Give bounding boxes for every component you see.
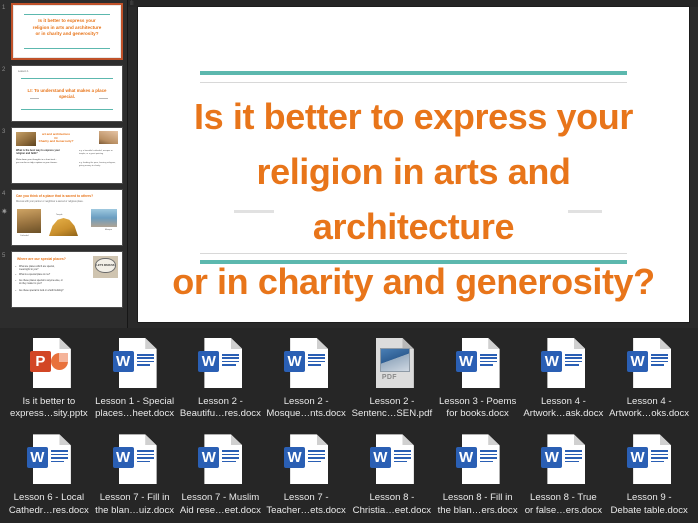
word-letter-badge: W (284, 447, 305, 468)
file-item[interactable]: P Is it better to express…sity.pptx (6, 336, 92, 420)
file-item[interactable]: W Lesson 1 - Special places…heet.docx (92, 336, 178, 420)
file-label-line-1: Is it better to (7, 396, 91, 408)
file-item[interactable]: W Lesson 7 - Muslim Aid rese…eet.docx (178, 432, 264, 516)
file-item[interactable]: W Lesson 3 - Poems for books.docx (435, 336, 521, 420)
presentation-editor: 1 Is it better to express your religion … (0, 0, 698, 328)
thumb1-rule-bottom (24, 48, 110, 49)
file-label-line-2: Teacher…ets.docx (264, 505, 348, 517)
slide-rule-bottom (200, 260, 627, 264)
slide-number-5: 5 (2, 251, 11, 260)
word-file-icon: W (369, 434, 415, 488)
thumb3-body: Write down your thoughts in a short task… (16, 159, 60, 165)
thumb4-caption-mosque: Mosque (105, 229, 112, 231)
thumb3-right-note-b: e.g. feeding the poor, housing refugees,… (79, 162, 119, 168)
file-label-line-2: Artwork…ask.docx (522, 408, 606, 420)
thumb5-discuss-caption: LET'S DISCUSS (95, 258, 116, 273)
file-item[interactable]: W Lesson 8 - Fill in the blan…ers.docx (435, 432, 521, 516)
stage-top-bar: ili (128, 0, 698, 7)
slide-number-1: 1 (2, 3, 11, 12)
file-item[interactable]: W Lesson 2 - Mosque…nts.docx (263, 336, 349, 420)
file-item[interactable]: PDF Lesson 2 - Sentenc…SEN.pdf (349, 336, 435, 420)
word-letter-badge: W (284, 351, 305, 372)
thumb3-charity-image (99, 131, 118, 144)
text-lines-glyph (565, 354, 582, 369)
file-label-line-2: express…sity.pptx (7, 408, 91, 420)
slide-artifact-right (568, 210, 602, 213)
thumb3-right-note-a: e.g. a beautiful cathedral, mosque or te… (79, 150, 119, 156)
file-label-line-2: Mosque…nts.docx (264, 408, 348, 420)
word-letter-badge: W (627, 351, 648, 372)
file-label-line-2: Artwork…oks.docx (607, 408, 691, 420)
slide-thumbnail-4-canvas[interactable]: Can you think of a place that is sacred … (11, 189, 123, 246)
file-label-line-1: Lesson 2 - (264, 396, 348, 408)
word-file-icon: W (283, 434, 329, 488)
file-label: Lesson 7 - Muslim Aid rese…eet.docx (179, 492, 263, 516)
slide-number-2: 2 (2, 65, 11, 74)
file-row-1: P Is it better to express…sity.pptx W Le… (6, 336, 692, 420)
file-label: Lesson 9 - Debate table.docx (607, 492, 691, 516)
file-label-line-1: Lesson 8 - (350, 492, 434, 504)
slide-thumbnail-rail[interactable]: 1 Is it better to express your religion … (0, 0, 128, 328)
slide-thumbnail-1[interactable]: 1 Is it better to express your religion … (0, 0, 127, 62)
file-label-line-1: Lesson 1 - Special (93, 396, 177, 408)
word-file-icon: W (540, 338, 586, 392)
text-lines-glyph (51, 450, 68, 465)
thumb4-subtitle: Discuss with your partner or neighbour a… (16, 201, 118, 203)
word-letter-badge: W (370, 447, 391, 468)
pie-chart-glyph (51, 353, 68, 370)
text-lines-glyph (565, 450, 582, 465)
file-label-line-2: Debate table.docx (607, 505, 691, 517)
file-label-line-2: Aid rese…eet.docx (179, 505, 263, 517)
word-file-icon: W (455, 338, 501, 392)
slide-thumbnail-1-canvas[interactable]: Is it better to express your religion in… (11, 3, 123, 60)
file-item[interactable]: W Lesson 9 - Debate table.docx (606, 432, 692, 516)
file-label-line-2: Sentenc…SEN.pdf (350, 408, 434, 420)
file-label: Lesson 2 - Mosque…nts.docx (264, 396, 348, 420)
thumb5-discuss-image: LET'S DISCUSS (93, 256, 118, 278)
word-file-icon: W (197, 338, 243, 392)
slide-thumbnail-3-canvas[interactable]: art and architecture Or Charity and Gene… (11, 127, 123, 184)
word-letter-badge: W (198, 447, 219, 468)
powerpoint-letter-badge: P (30, 351, 51, 372)
file-label-line-1: Lesson 4 - (522, 396, 606, 408)
file-label-line-1: Lesson 6 - Local (7, 492, 91, 504)
file-label: Is it better to express…sity.pptx (7, 396, 91, 420)
thumb1-rule-top (24, 14, 110, 15)
word-letter-badge: W (198, 351, 219, 372)
file-label: Lesson 8 - Christia…eet.docx (350, 492, 434, 516)
word-file-icon: W (455, 434, 501, 488)
word-letter-badge: W (113, 447, 134, 468)
file-label-line-2: for books.docx (436, 408, 520, 420)
word-letter-badge: W (456, 351, 477, 372)
file-label-line-2: Cathedr…res.docx (7, 505, 91, 517)
file-label-line-1: Lesson 2 - (350, 396, 434, 408)
file-label: Lesson 8 - True or false…ers.docx (522, 492, 606, 516)
word-letter-badge: W (627, 447, 648, 468)
thumb1-title-line-1: Is it better to express your (19, 18, 114, 24)
slide-number-3: 3 (2, 127, 11, 136)
file-label-line-1: Lesson 8 - Fill in (436, 492, 520, 504)
thumb2-dash-right (99, 98, 108, 99)
slide-thumbnail-2-canvas[interactable]: Lesson 1 LI: To understand what makes a … (11, 65, 123, 122)
file-label: Lesson 8 - Fill in the blan…ers.docx (436, 492, 520, 516)
thumb5-bullet-1: What are places which are special, meani… (19, 266, 64, 272)
word-file-icon: W (197, 434, 243, 488)
slide-hairline-top (200, 82, 627, 83)
word-letter-badge: W (113, 351, 134, 372)
word-letter-badge: W (541, 351, 562, 372)
text-lines-glyph (222, 354, 239, 369)
word-file-icon: W (112, 434, 158, 488)
thumb4-caption-cathedral: Cathedral (20, 235, 29, 237)
slide-title: Is it better to express your religion in… (160, 89, 667, 309)
file-label-line-1: Lesson 7 - Muslim (179, 492, 263, 504)
file-label-line-2: the blan…ers.docx (436, 505, 520, 517)
word-file-icon: W (626, 338, 672, 392)
file-item[interactable]: W Lesson 4 - Artwork…oks.docx (606, 336, 692, 420)
file-label-line-2: places…heet.docx (93, 408, 177, 420)
thumb2-eyebrow: Lesson 1 (18, 70, 29, 73)
word-file-icon: W (26, 434, 72, 488)
file-label: Lesson 7 - Fill in the blan…uiz.docx (93, 492, 177, 516)
thumb2-rule-bottom (21, 109, 113, 110)
file-item[interactable]: W Lesson 4 - Artwork…ask.docx (521, 336, 607, 420)
file-item[interactable]: W Lesson 8 - True or false…ers.docx (521, 432, 607, 516)
thumb3-architecture-image (16, 132, 36, 146)
file-label: Lesson 3 - Poems for books.docx (436, 396, 520, 420)
word-file-icon: W (283, 338, 329, 392)
text-lines-glyph (651, 450, 668, 465)
file-browser-strip[interactable]: P Is it better to express…sity.pptx W Le… (0, 328, 698, 523)
text-lines-glyph (137, 450, 154, 465)
thumb4-question: Can you think of a place that is sacred … (16, 194, 118, 198)
slide-stage: ili Is it better to express your religio… (128, 0, 698, 328)
file-label-line-2: the blan…uiz.docx (93, 505, 177, 517)
file-row-spacer (6, 420, 692, 432)
file-label-line-1: Lesson 8 - True (522, 492, 606, 504)
text-lines-glyph (137, 354, 154, 369)
word-file-icon: W (626, 434, 672, 488)
slide-rule-top (200, 71, 627, 75)
text-lines-glyph (394, 450, 411, 465)
thumb5-bullet-4: Are these special to God or a faith buil… (19, 290, 64, 293)
file-label-line-2: or false…ers.docx (522, 505, 606, 517)
word-file-icon: W (540, 434, 586, 488)
stage-ghost-mark: ili (130, 0, 133, 7)
thumb4-mosque-image (91, 209, 117, 227)
file-item[interactable]: W Lesson 2 - Beautifu…res.docx (178, 336, 264, 420)
slide-title-line-1: Is it better to express your (160, 89, 667, 144)
file-row-2: W Lesson 6 - Local Cathedr…res.docx W Le… (6, 432, 692, 516)
file-label-line-1: Lesson 2 - (179, 396, 263, 408)
file-label: Lesson 7 - Teacher…ets.docx (264, 492, 348, 516)
file-label: Lesson 1 - Special places…heet.docx (93, 396, 177, 420)
file-label-line-1: Lesson 9 - (607, 492, 691, 504)
word-letter-badge: W (541, 447, 562, 468)
powerpoint-file-icon: P (26, 338, 72, 392)
file-item[interactable]: W Lesson 7 - Fill in the blan…uiz.docx (92, 432, 178, 516)
thumb1-title-line-2: religion in arts and architecture (19, 25, 114, 31)
current-slide[interactable]: Is it better to express your religion in… (138, 7, 689, 322)
slide-thumbnail-4[interactable]: 4 ✷ Can you think of a place that is sac… (0, 186, 127, 248)
thumb4-cathedral-image (17, 209, 41, 233)
word-file-icon: W (112, 338, 158, 392)
slide-thumbnail-3[interactable]: 3 art and architecture Or Charity and Ge… (0, 124, 127, 186)
thumb5-heading: Where are our special places? (17, 257, 66, 261)
text-lines-glyph (308, 450, 325, 465)
file-label-line-2: Christia…eet.docx (350, 505, 434, 517)
word-letter-badge: W (456, 447, 477, 468)
file-label: Lesson 4 - Artwork…oks.docx (607, 396, 691, 420)
pdf-file-icon: PDF (369, 338, 415, 392)
slide-animation-star-icon: ✷ (1, 208, 8, 216)
thumb1-title-line-3: or in charity and generosity? (19, 31, 114, 37)
file-label: Lesson 2 - Beautifu…res.docx (179, 396, 263, 420)
file-label: Lesson 2 - Sentenc…SEN.pdf (350, 396, 434, 420)
thumb4-temple-image (49, 218, 78, 236)
file-label-line-1: Lesson 3 - Poems (436, 396, 520, 408)
word-letter-badge: W (27, 447, 48, 468)
thumb4-caption-temple: Temple (56, 214, 62, 216)
thumb2-rule-top (21, 78, 113, 79)
file-item[interactable]: W Lesson 8 - Christia…eet.docx (349, 432, 435, 516)
file-label: Lesson 6 - Local Cathedr…res.docx (7, 492, 91, 516)
text-lines-glyph (480, 450, 497, 465)
thumb2-dash-left (30, 98, 39, 99)
slide-thumbnail-5-canvas[interactable]: Where are our special places? What are p… (11, 251, 123, 308)
pdf-type-label: PDF (382, 374, 397, 381)
file-item[interactable]: W Lesson 7 - Teacher…ets.docx (263, 432, 349, 516)
slide-thumbnail-5[interactable]: 5 Where are our special places? What are… (0, 248, 127, 310)
file-label-line-1: Lesson 7 - Fill in (93, 492, 177, 504)
slide-artifact-left (234, 210, 274, 213)
thumb3-question: What is the best way to express your rel… (16, 149, 60, 156)
slide-thumbnail-2[interactable]: 2 Lesson 1 LI: To understand what makes … (0, 62, 127, 124)
file-label-line-1: Lesson 4 - (607, 396, 691, 408)
file-label-line-2: Beautifu…res.docx (179, 408, 263, 420)
slide-hairline-bottom (200, 253, 627, 254)
pdf-preview-thumbnail (380, 348, 410, 372)
text-lines-glyph (222, 450, 239, 465)
thumb5-bullet-3: Are these places special to anyone else,… (19, 280, 64, 286)
file-label-line-1: Lesson 7 - (264, 492, 348, 504)
thumb3-heading-b: Charity and Generosity? (38, 139, 74, 143)
text-lines-glyph (308, 354, 325, 369)
file-label: Lesson 4 - Artwork…ask.docx (522, 396, 606, 420)
application-root: 1 Is it better to express your religion … (0, 0, 698, 523)
file-item[interactable]: W Lesson 6 - Local Cathedr…res.docx (6, 432, 92, 516)
slide-number-4: 4 (2, 189, 11, 198)
text-lines-glyph (480, 354, 497, 369)
text-lines-glyph (651, 354, 668, 369)
thumb5-bullet-2: What is a special place to me? (19, 274, 64, 277)
slide-title-line-2: religion in arts and architecture (160, 144, 667, 254)
